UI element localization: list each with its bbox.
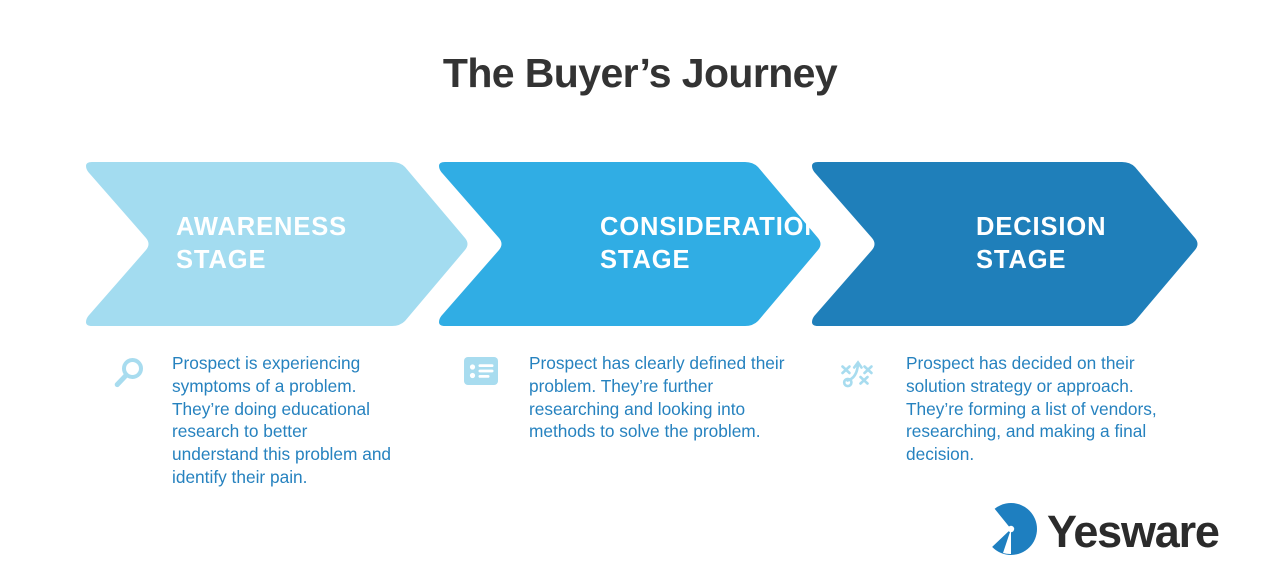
stage-label: DECISION STAGE bbox=[976, 211, 1106, 276]
stage-descriptions: Prospect is experiencing symptoms of a p… bbox=[0, 352, 1280, 482]
stage-label: CONSIDERATION STAGE bbox=[600, 211, 824, 276]
stage-label: AWARENESS STAGE bbox=[176, 211, 347, 276]
yesware-logo[interactable]: Yesware bbox=[984, 502, 1219, 561]
stage-chevron-decision[interactable]: DECISION STAGE bbox=[806, 162, 1200, 326]
description-text: Prospect is experiencing symptoms of a p… bbox=[172, 352, 398, 489]
strategy-playbook-icon bbox=[840, 356, 886, 398]
stage-chevron-awareness[interactable]: AWARENESS STAGE bbox=[80, 162, 470, 326]
stage-chevron-consideration[interactable]: CONSIDERATION STAGE bbox=[433, 162, 823, 326]
page-title: The Buyer’s Journey bbox=[0, 50, 1280, 97]
stage-flow-band: AWARENESS STAGE CONSIDERATION STAGE DECI… bbox=[80, 162, 1200, 326]
description-block-decision: Prospect has decided on their solution s… bbox=[840, 352, 1180, 466]
magnifying-glass-icon bbox=[112, 356, 158, 398]
description-text: Prospect has decided on their solution s… bbox=[906, 352, 1172, 466]
bulleted-list-icon bbox=[464, 356, 510, 398]
description-block-awareness: Prospect is experiencing symptoms of a p… bbox=[112, 352, 412, 489]
description-text: Prospect has clearly defined their probl… bbox=[529, 352, 801, 443]
description-block-consideration: Prospect has clearly defined their probl… bbox=[464, 352, 804, 443]
yesware-y-mark-icon bbox=[984, 502, 1038, 561]
brand-wordmark: Yesware bbox=[1047, 509, 1219, 554]
